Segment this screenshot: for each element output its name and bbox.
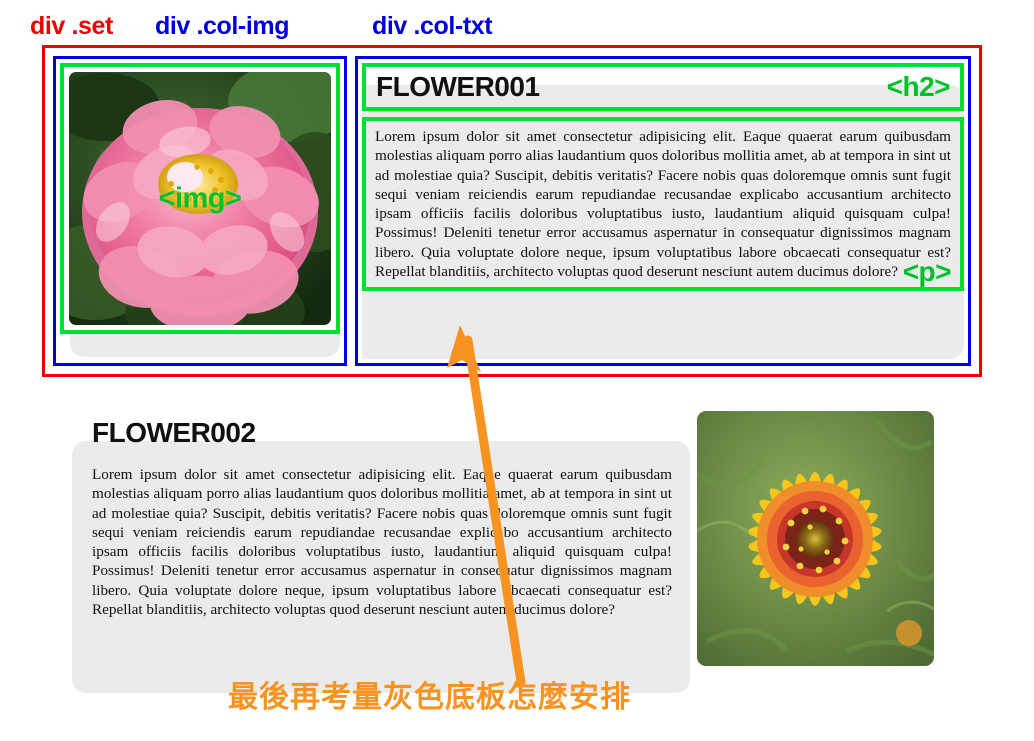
set-inner-layout: <img> FLOWER001 <h2> Lorem ipsum dolor s… (45, 48, 979, 374)
card-body-text: Lorem ipsum dolor sit amet consectetur a… (375, 127, 951, 281)
card-title-2: FLOWER002 (92, 417, 256, 449)
flower-image-1: <img> (69, 72, 331, 325)
chinese-caption: 最後再考量灰色底板怎麼安排 (228, 672, 631, 716)
img-tag-annotation: <img> (69, 182, 331, 215)
annotation-label-set: div .set (30, 12, 113, 41)
card-body-2: Lorem ipsum dolor sit amet consectetur a… (92, 465, 672, 619)
set-container-plain: FLOWER002 Lorem ipsum dolor sit amet con… (72, 405, 982, 705)
col-img-container: <img> (53, 56, 347, 366)
img-highlight-box: <img> (60, 63, 340, 334)
h2-highlight-box: FLOWER001 <h2> (362, 63, 964, 111)
card-title: FLOWER001 (376, 71, 540, 103)
annotation-label-col-img: div .col-img (155, 12, 289, 41)
annotation-label-col-txt: div .col-txt (372, 12, 492, 41)
set-container-annotated: <img> FLOWER001 <h2> Lorem ipsum dolor s… (42, 45, 982, 377)
p-highlight-box: Lorem ipsum dolor sit amet consectetur a… (362, 117, 964, 291)
col-txt-container: FLOWER001 <h2> Lorem ipsum dolor sit ame… (355, 56, 971, 366)
h2-tag-annotation: <h2> (887, 71, 950, 103)
card-body-text-2: Lorem ipsum dolor sit amet consectetur a… (92, 465, 672, 619)
flower-image-2 (697, 411, 934, 666)
blanket-flower-illustration (697, 411, 934, 666)
annotation-label-row: div .set div .col-img div .col-txt (0, 12, 1034, 44)
